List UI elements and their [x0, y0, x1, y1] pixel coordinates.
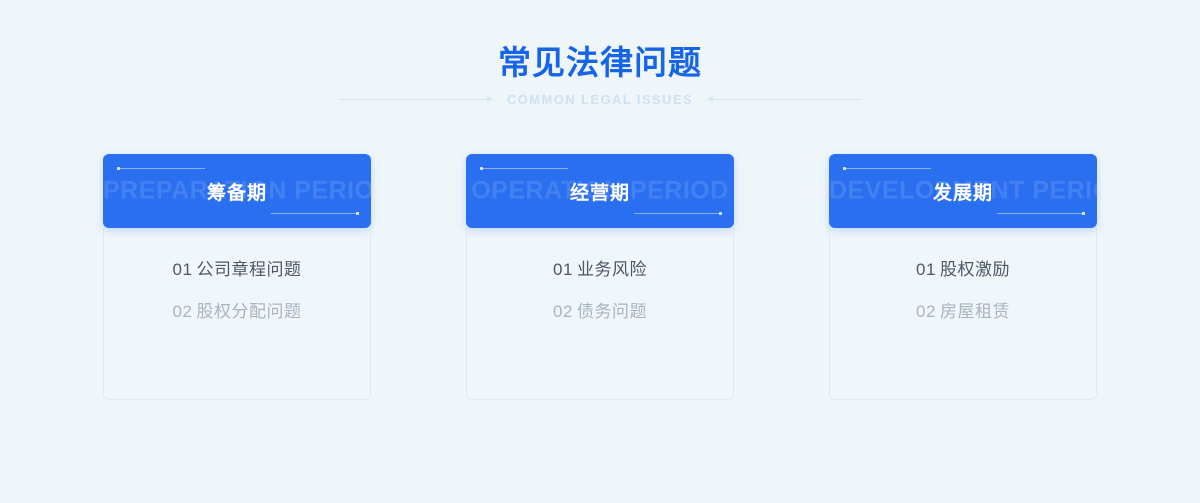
subtitle-row: COMMON LEGAL ISSUES [0, 92, 1200, 107]
list-item-number: 02 [553, 302, 573, 321]
page-subtitle: COMMON LEGAL ISSUES [507, 92, 693, 107]
list-item[interactable]: 02债务问题 [467, 301, 733, 324]
header-accent-line-bottom-icon [997, 213, 1085, 214]
card-header: DEVELOPMENT PERIOD 发展期 [829, 154, 1097, 228]
list-item-label: 业务风险 [577, 260, 647, 279]
list-item-label: 股权激励 [940, 260, 1010, 279]
card-title: 经营期 [570, 178, 630, 205]
list-item-more: ······ [467, 343, 733, 363]
card-body: 01股权激励 02房屋租赁 ······ [829, 228, 1097, 400]
list-item[interactable]: 02房屋租赁 [830, 301, 1096, 324]
list-item-label: 债务问题 [577, 302, 647, 321]
card-development-period[interactable]: DEVELOPMENT PERIOD 发展期 01股权激励 02房屋租赁 ···… [829, 154, 1097, 400]
header-accent-line-bottom-icon [634, 213, 722, 214]
card-body: 01业务风险 02债务问题 ······ [466, 228, 734, 400]
list-item-label: ······ [939, 344, 987, 361]
card-preparation-period[interactable]: PREPARATION PERIOD 筹备期 01公司章程问题 02股权分配问题 [103, 154, 371, 400]
list-item-label: 公司章程问题 [196, 260, 301, 279]
card-header: PREPARATION PERIOD 筹备期 [103, 154, 371, 228]
list-item-more: ······ [830, 343, 1096, 363]
page-title: 常见法律问题 [0, 42, 1200, 83]
card-operation-period[interactable]: OPERATION PERIOD 经营期 01业务风险 02债务问题 ·····… [466, 154, 734, 400]
list-item-label: 房屋租赁 [940, 302, 1010, 321]
list-item-number: 02 [173, 302, 193, 321]
decorative-arrow-right-icon [707, 95, 862, 105]
list-item-label: 股权分配问题 [196, 302, 301, 321]
header-accent-line-top-icon [480, 168, 568, 169]
header-accent-line-bottom-icon [271, 213, 359, 214]
list-item[interactable]: 01公司章程问题 [104, 259, 370, 282]
list-item-label: ······ [576, 344, 624, 361]
list-item-number: 01 [173, 260, 193, 279]
header-accent-line-top-icon [843, 168, 931, 169]
section-header: 常见法律问题 COMMON LEGAL ISSUES [0, 0, 1200, 107]
card-list: PREPARATION PERIOD 筹备期 01公司章程问题 02股权分配问题… [0, 154, 1200, 400]
list-item-number: 01 [553, 260, 573, 279]
list-item[interactable]: 02股权分配问题 [104, 301, 370, 324]
list-item-number: 01 [916, 260, 936, 279]
card-title: 发展期 [933, 178, 993, 205]
list-item[interactable]: 01股权激励 [830, 259, 1096, 282]
list-item-number: 02 [916, 302, 936, 321]
header-accent-line-top-icon [117, 168, 205, 169]
card-body: 01公司章程问题 02股权分配问题 [103, 228, 371, 400]
card-title: 筹备期 [207, 178, 267, 205]
card-header: OPERATION PERIOD 经营期 [466, 154, 734, 228]
list-item[interactable]: 01业务风险 [467, 259, 733, 282]
decorative-arrow-left-icon [338, 95, 493, 105]
